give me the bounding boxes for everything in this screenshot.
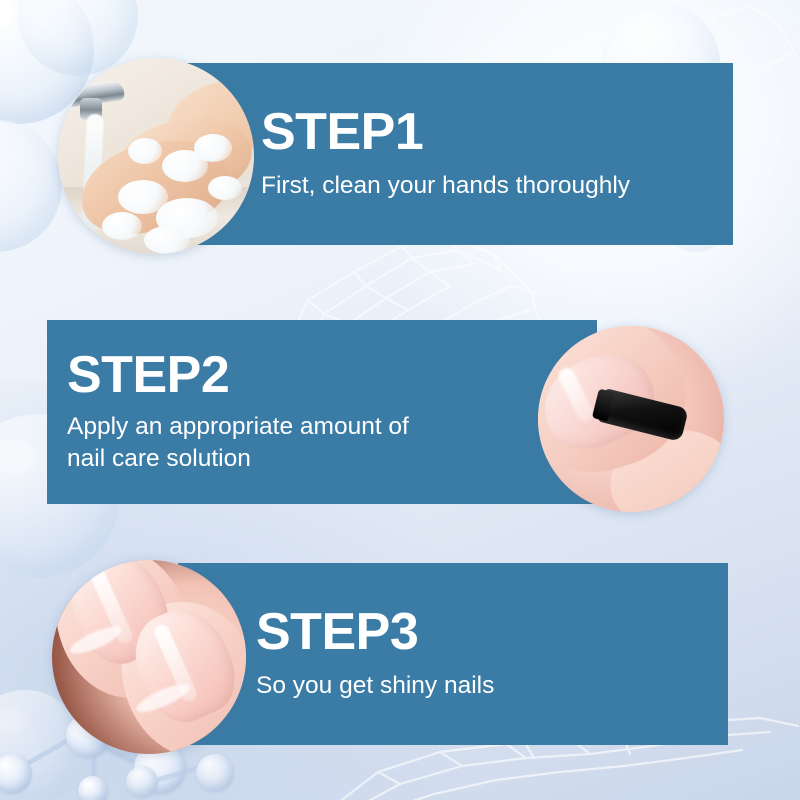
step-2-description-line-1: Apply an appropriate amount of	[67, 411, 409, 443]
soap-foam	[128, 138, 162, 164]
soap-foam	[194, 134, 232, 162]
soap-foam	[208, 176, 242, 200]
washing-hands-illustration	[58, 58, 254, 254]
molecule-decoration	[118, 752, 258, 800]
step-2-title: STEP2	[67, 349, 409, 401]
step-card-2[interactable]: STEP2 Apply an appropriate amount of nai…	[47, 320, 597, 504]
shiny-nails-illustration	[52, 560, 246, 754]
shiny-nails-photo	[52, 560, 246, 754]
molecule-atom	[0, 754, 32, 794]
molecule-atom	[78, 776, 108, 800]
washing-hands-photo	[58, 58, 254, 254]
molecule-atom	[126, 766, 158, 798]
step-card-1[interactable]: STEP1 First, clean your hands thoroughly	[183, 63, 733, 245]
soap-foam	[102, 212, 142, 240]
step-3-title: STEP3	[256, 606, 494, 658]
step-1-description: First, clean your hands thoroughly	[261, 170, 630, 202]
step-2-text-block: STEP2 Apply an appropriate amount of nai…	[47, 349, 409, 475]
step-card-3[interactable]: STEP3 So you get shiny nails	[178, 563, 728, 745]
step-1-title: STEP1	[261, 106, 630, 158]
molecule-atom	[196, 754, 234, 792]
step-2-description-line-2: nail care solution	[67, 443, 409, 475]
step-3-description: So you get shiny nails	[256, 670, 494, 702]
step-2-description: Apply an appropriate amount of nail care…	[67, 411, 409, 475]
soap-foam	[144, 226, 190, 254]
nail-brush-illustration	[538, 326, 724, 512]
nail-brush-application-photo	[538, 326, 724, 512]
